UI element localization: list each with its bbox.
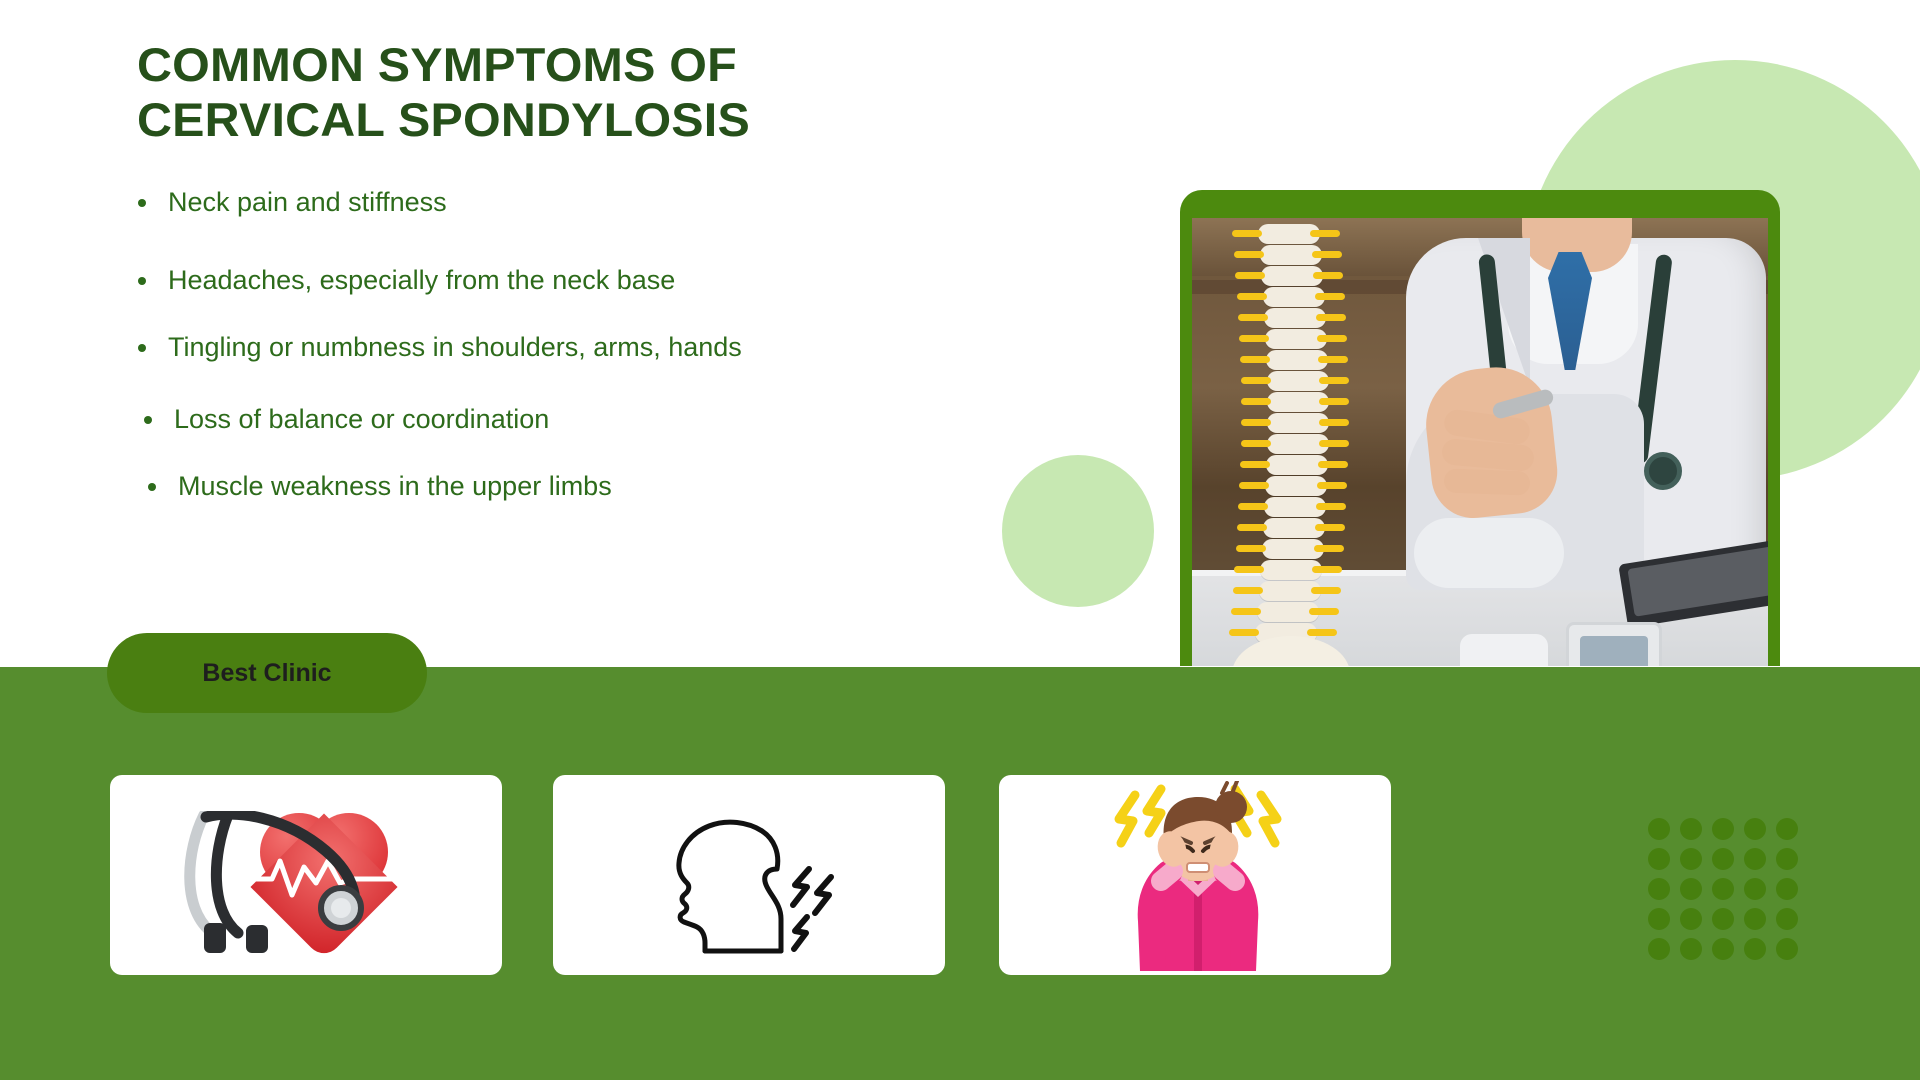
spinal-nerve (1238, 503, 1268, 510)
grid-dot (1776, 818, 1798, 840)
grid-dot (1712, 848, 1734, 870)
spinal-nerve (1235, 272, 1265, 279)
spinal-nerve (1241, 440, 1271, 447)
spinal-nerve (1319, 398, 1349, 405)
spinal-nerve (1317, 335, 1347, 342)
symptom-text: Muscle weakness in the upper limbs (178, 471, 612, 501)
grid-dot (1744, 848, 1766, 870)
spinal-nerve (1318, 461, 1348, 468)
spinal-nerve (1238, 314, 1268, 321)
spinal-nerve (1233, 587, 1263, 594)
infographic-canvas: COMMON SYMPTOMS OF CERVICAL SPONDYLOSIS … (0, 0, 1920, 1080)
grid-dot (1680, 938, 1702, 960)
page-title-line-1: COMMON SYMPTOMS OF (137, 38, 940, 93)
grid-dot (1744, 908, 1766, 930)
page-title-line-2: CERVICAL SPONDYLOSIS (137, 93, 940, 148)
woman-headache-icon (999, 775, 1391, 975)
doctor-photo (1192, 218, 1768, 666)
stethoscope-bell-icon (318, 885, 364, 931)
grid-dot (1712, 818, 1734, 840)
list-item: Muscle weakness in the upper limbs (132, 470, 962, 502)
best-clinic-label: Best Clinic (202, 659, 331, 688)
spinal-nerve (1241, 419, 1271, 426)
spinal-nerve (1317, 482, 1347, 489)
spinal-nerve (1241, 377, 1271, 384)
spinal-nerve (1310, 230, 1340, 237)
symptom-text: Loss of balance or coordination (174, 404, 549, 434)
dot-grid-decoration (1648, 818, 1808, 968)
grid-dot (1712, 908, 1734, 930)
grid-dot (1744, 938, 1766, 960)
list-item: Loss of balance or coordination (132, 403, 962, 435)
symptom-text: Tingling or numbness in shoulders, arms,… (168, 332, 742, 362)
grid-dot (1648, 878, 1670, 900)
head-profile-icon (631, 791, 881, 961)
spinal-nerve (1319, 419, 1349, 426)
spine-model (1216, 218, 1366, 666)
spinal-nerve (1239, 335, 1269, 342)
stethoscope-heart-icon (110, 775, 502, 975)
grid-dot (1712, 878, 1734, 900)
stethoscope-chestpiece (1644, 452, 1682, 490)
list-item: Neck pain and stiffness (132, 186, 962, 218)
stethoscope-eartip-left (204, 923, 226, 953)
spinal-nerve (1231, 608, 1261, 615)
grid-dot (1648, 848, 1670, 870)
spinal-nerve (1315, 524, 1345, 531)
card-woman-headache[interactable] (999, 775, 1391, 975)
spinal-nerve (1239, 482, 1269, 489)
spinal-nerve (1241, 398, 1271, 405)
symptom-text: Headaches, especially from the neck base (168, 265, 675, 295)
best-clinic-badge[interactable]: Best Clinic (107, 633, 427, 713)
spinal-nerve (1232, 230, 1262, 237)
spinal-nerve (1240, 356, 1270, 363)
spinal-nerve (1307, 629, 1337, 636)
woman-holding-head-icon (1073, 781, 1323, 971)
bullet-icon (148, 483, 156, 491)
spinal-nerve (1312, 566, 1342, 573)
grid-dot (1648, 908, 1670, 930)
grid-dot (1680, 908, 1702, 930)
spinal-nerve (1315, 293, 1345, 300)
grid-dot (1776, 878, 1798, 900)
spinal-nerve (1236, 545, 1266, 552)
spinal-nerve (1319, 440, 1349, 447)
spinal-nerve (1229, 629, 1259, 636)
spinal-nerve (1234, 566, 1264, 573)
card-head-neck-pain[interactable] (553, 775, 945, 975)
grid-dot (1744, 818, 1766, 840)
stethoscope-eartip-right (246, 925, 268, 953)
grid-dot (1648, 938, 1670, 960)
grid-dot (1680, 848, 1702, 870)
spinal-nerve (1311, 587, 1341, 594)
page-title: COMMON SYMPTOMS OF CERVICAL SPONDYLOSIS (137, 38, 940, 148)
spinal-nerve (1316, 503, 1346, 510)
grid-dot (1744, 878, 1766, 900)
symptom-list: Neck pain and stiffness Headaches, espec… (132, 186, 962, 502)
spinal-nerve (1314, 545, 1344, 552)
medical-device (1460, 634, 1548, 666)
spinal-nerve (1318, 356, 1348, 363)
bullet-icon (144, 416, 152, 424)
grid-dot (1776, 908, 1798, 930)
grid-dot (1680, 878, 1702, 900)
spinal-nerve (1309, 608, 1339, 615)
bullet-icon (138, 277, 146, 285)
spinal-nerve (1312, 251, 1342, 258)
list-item: Tingling or numbness in shoulders, arms,… (132, 331, 962, 363)
bullet-icon (138, 344, 146, 352)
bullet-icon (138, 199, 146, 207)
grid-dot (1776, 848, 1798, 870)
list-item: Headaches, especially from the neck base (132, 264, 962, 296)
spinal-nerve (1240, 461, 1270, 468)
spinal-nerve (1319, 377, 1349, 384)
grid-dot (1680, 818, 1702, 840)
decorative-circle-middle (1002, 455, 1154, 607)
grid-dot (1648, 818, 1670, 840)
grid-dot (1712, 938, 1734, 960)
spinal-nerve (1316, 314, 1346, 321)
symptom-text: Neck pain and stiffness (168, 187, 447, 217)
spinal-nerve (1313, 272, 1343, 279)
card-stethoscope-heart[interactable] (110, 775, 502, 975)
doctor-photo-frame (1180, 190, 1780, 666)
grid-dot (1776, 938, 1798, 960)
spinal-nerve (1234, 251, 1264, 258)
spinal-nerve (1237, 524, 1267, 531)
head-neck-pain-icon (553, 775, 945, 975)
spinal-nerve (1237, 293, 1267, 300)
